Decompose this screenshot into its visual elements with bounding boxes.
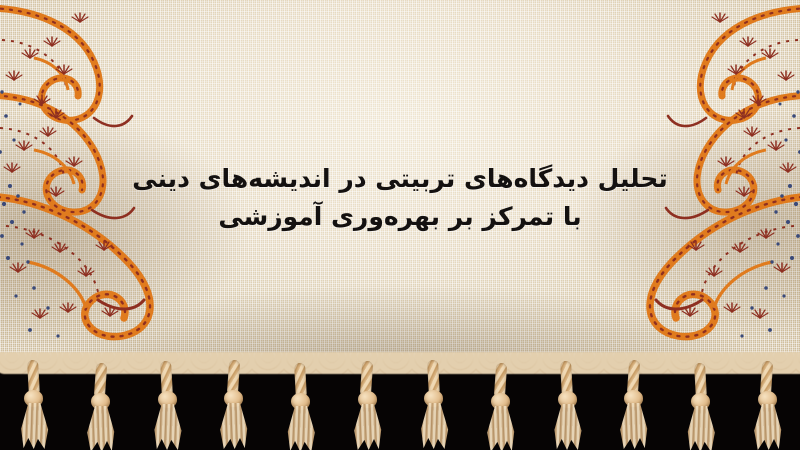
tassel xyxy=(144,361,190,450)
tassel-skirt xyxy=(753,404,783,450)
tassel xyxy=(544,361,590,450)
title-line-1: تحلیل دیدگاه‌های تربیتی در اندیشه‌های دی… xyxy=(132,164,668,193)
tassel xyxy=(610,360,656,450)
tassel xyxy=(77,363,123,450)
banner-title: تحلیل دیدگاه‌های تربیتی در اندیشه‌های دی… xyxy=(0,160,800,236)
banner-image: تحلیل دیدگاه‌های تربیتی در اندیشه‌های دی… xyxy=(0,0,800,450)
title-line-2: با تمرکز بر بهره‌وری آموزشی xyxy=(0,198,800,236)
tassel-skirt xyxy=(286,406,316,450)
tassel xyxy=(677,363,723,450)
tassel xyxy=(744,361,790,450)
tassel xyxy=(477,363,523,450)
tassel xyxy=(210,360,256,450)
tassel-skirt xyxy=(686,406,716,450)
tassel-skirt xyxy=(219,403,249,449)
tassel-skirt xyxy=(353,404,383,450)
tassel-skirt xyxy=(86,406,116,450)
tassel-skirt xyxy=(19,403,49,449)
tassel-fringe xyxy=(0,360,800,450)
tassel-skirt xyxy=(619,403,649,449)
tassel-skirt xyxy=(419,403,449,449)
tassel xyxy=(10,360,56,450)
tassel xyxy=(344,361,390,450)
tassel xyxy=(277,363,323,450)
tassel-skirt xyxy=(153,404,183,450)
tassel-skirt xyxy=(486,406,516,450)
tassel-skirt xyxy=(553,404,583,450)
tassel xyxy=(410,360,456,450)
